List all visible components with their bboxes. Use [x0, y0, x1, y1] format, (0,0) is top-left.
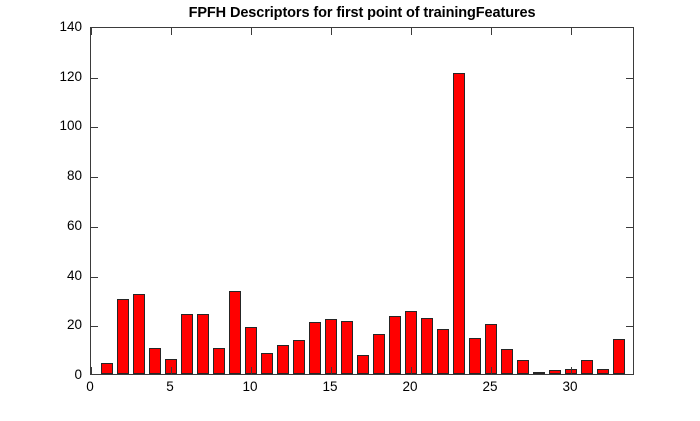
bar — [581, 360, 594, 374]
bar — [357, 355, 370, 374]
x-axis-tick — [491, 367, 492, 374]
y-axis-tick-label: 100 — [59, 119, 82, 133]
bar — [517, 360, 530, 374]
x-axis-tick — [91, 367, 92, 374]
y-axis-tick — [626, 227, 633, 228]
y-axis-tick — [626, 127, 633, 128]
chart-title: FPFH Descriptors for first point of trai… — [90, 5, 634, 21]
x-axis-tick — [171, 28, 172, 35]
x-axis-tick — [491, 28, 492, 35]
x-axis-tick — [411, 28, 412, 35]
y-axis-tick — [626, 277, 633, 278]
bar — [181, 314, 194, 374]
y-axis-tick — [91, 277, 98, 278]
x-axis-tick-label: 30 — [562, 380, 577, 394]
bar — [309, 322, 322, 374]
bar — [293, 340, 306, 374]
bar — [389, 316, 402, 374]
bar — [421, 318, 434, 374]
bar — [549, 370, 562, 374]
y-axis-tick-label: 140 — [59, 20, 82, 34]
bar — [453, 73, 466, 374]
y-axis-tick-label: 40 — [67, 269, 82, 283]
bar — [325, 319, 338, 374]
bar — [133, 294, 146, 374]
y-axis-tick — [91, 127, 98, 128]
x-axis-tick-label: 10 — [242, 380, 257, 394]
x-axis-tick-label: 25 — [482, 380, 497, 394]
figure-canvas: FPFH Descriptors for first point of trai… — [0, 0, 700, 421]
bar — [101, 363, 114, 374]
plot-area — [90, 27, 634, 375]
bar — [213, 348, 226, 374]
x-axis-tick — [91, 28, 92, 35]
x-axis-tick — [251, 28, 252, 35]
x-axis-tick — [331, 28, 332, 35]
bar — [469, 338, 482, 374]
x-axis-tick — [331, 367, 332, 374]
x-axis-tick-label: 20 — [402, 380, 417, 394]
x-axis-tick — [251, 367, 252, 374]
bar — [405, 311, 418, 374]
y-axis-tick — [626, 78, 633, 79]
x-axis-tick — [571, 367, 572, 374]
y-axis-tick — [626, 326, 633, 327]
bar — [341, 321, 354, 374]
bar — [261, 353, 274, 374]
y-axis-tick — [91, 78, 98, 79]
y-axis-tick — [626, 177, 633, 178]
bar — [437, 329, 450, 374]
bar — [117, 299, 130, 374]
x-axis-tick — [171, 367, 172, 374]
x-axis-tick — [571, 28, 572, 35]
bar — [501, 349, 514, 374]
bar — [149, 348, 162, 374]
bar — [533, 372, 546, 374]
y-axis-tick — [91, 326, 98, 327]
bar — [197, 314, 210, 374]
y-axis-tick — [91, 227, 98, 228]
x-axis-tick-labels: 051015202530 — [90, 380, 634, 402]
y-axis-tick-label: 80 — [67, 169, 82, 183]
bar — [597, 369, 610, 374]
bar — [373, 334, 386, 374]
y-axis-tick-label: 60 — [67, 219, 82, 233]
y-axis-tick — [91, 177, 98, 178]
bar — [229, 291, 242, 374]
y-axis-tick-label: 0 — [74, 368, 82, 382]
y-axis-tick-label: 20 — [67, 318, 82, 332]
y-axis-tick-label: 120 — [59, 70, 82, 84]
x-axis-tick-label: 15 — [322, 380, 337, 394]
bar — [277, 345, 290, 374]
x-axis-tick-label: 0 — [86, 380, 94, 394]
y-axis-tick-labels: 020406080100120140 — [38, 27, 82, 375]
bars-layer — [91, 28, 633, 374]
x-axis-tick — [411, 367, 412, 374]
x-axis-tick-label: 5 — [166, 380, 174, 394]
bar — [613, 339, 626, 374]
